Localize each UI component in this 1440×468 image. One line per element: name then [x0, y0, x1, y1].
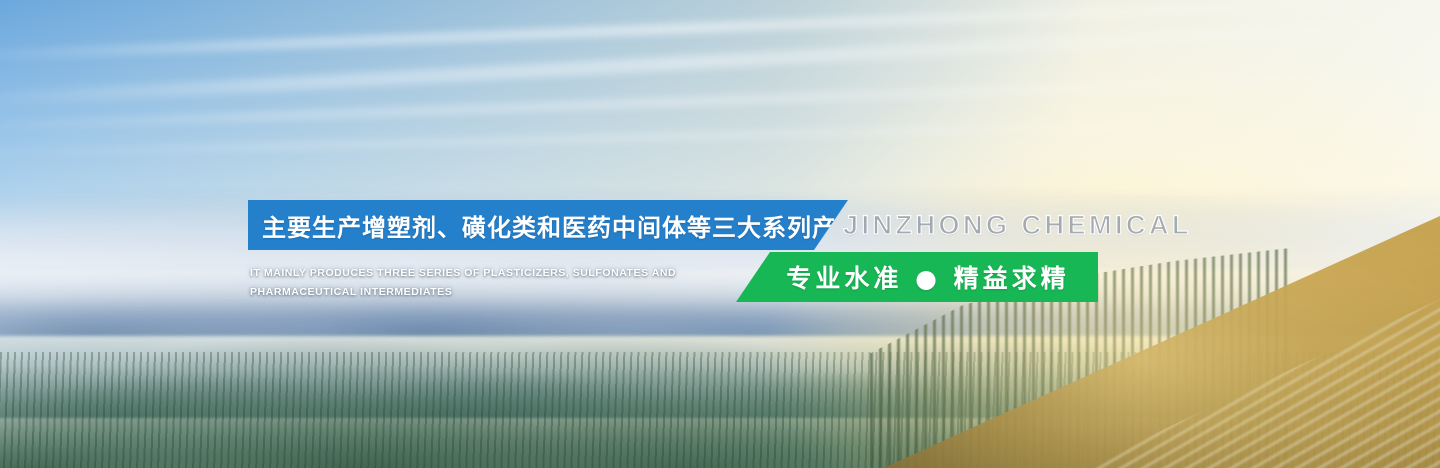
hero-banner: 主要生产增塑剂、磺化类和医药中间体等三大系列产品 JINZHONG CHEMIC…	[0, 0, 1440, 468]
brand-wordmark: JINZHONG CHEMICAL	[843, 210, 1192, 241]
headline-band-blue: 主要生产增塑剂、磺化类和医药中间体等三大系列产品	[248, 200, 848, 250]
headline-chinese: 主要生产增塑剂、磺化类和医药中间体等三大系列产品	[248, 208, 862, 243]
subheadline-english: IT MAINLY PRODUCES THREE SERIES OF PLAST…	[250, 264, 755, 302]
slogan-chinese: 专业水准 ● 精益求精	[764, 259, 1069, 295]
slogan-band-green: 专业水准 ● 精益求精	[736, 252, 1098, 302]
